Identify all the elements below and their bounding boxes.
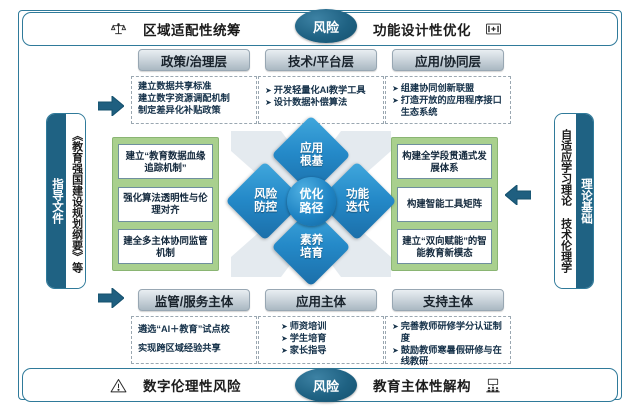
list-item: ➤完善教师研修学分认证制度: [392, 321, 505, 345]
theory-basis-panel: 自适应学习理论 技术伦理学 理论基础: [554, 113, 594, 289]
theory-basis-title: 理论基础: [576, 114, 594, 288]
bottom-bar-left-label: 数字伦理性风险: [143, 375, 241, 395]
header-support-subject: 支持主体: [392, 289, 504, 311]
list-item: ➤设计数据补偿算法: [265, 97, 378, 109]
diagram-root: 区域适配性统筹 功能设计性优化 风险 数字伦理性风险 教育主体性解构: [0, 0, 640, 412]
list-item: ➤开发轻量化AI教学工具: [265, 85, 378, 97]
header-application-subject: 应用主体: [265, 289, 377, 311]
list-item: ➤家长指导: [281, 345, 378, 357]
green-panel-left: 建立“教育数据血缘追踪机制” 强化算法透明性与伦理对齐 建全多主体协同监管机制: [112, 137, 219, 271]
projector-screen-icon: [480, 22, 506, 36]
cell-application-subject: ➤师资培训 ➤学生培育 ➤家长指导: [258, 316, 384, 364]
center-cluster: 应用 根基 功能 迭代 素养 培育 风险 防控 优化 路径: [231, 131, 391, 277]
arrow-right-top-icon: [98, 96, 124, 116]
list-item: ➤鼓励教师寒暑假研修与在线教研: [392, 345, 505, 369]
top-bar-left-label: 区域适配性统筹: [143, 19, 241, 39]
header-regulation-service: 监管/服务主体: [138, 289, 250, 311]
green-item: 建立“双向赋能”的智能教育新模态: [397, 229, 492, 264]
green-item: 强化算法透明性与伦理对齐: [118, 187, 213, 222]
list-item: ➤制定差异化补贴政策: [138, 105, 251, 117]
list-item: ➤遴选“AI＋教育”试点校: [138, 324, 251, 336]
list-item: ➤学生培育: [281, 333, 378, 345]
guiding-documents-panel: 指导文件 《教育强国建设规划纲要》等: [46, 113, 86, 289]
green-item: 建全多主体协同监管机制: [118, 229, 213, 264]
guiding-documents-title: 指导文件: [47, 114, 66, 288]
theory-basis-content: 自适应学习理论 技术伦理学: [555, 114, 576, 288]
core-optimization-path: 优化 路径: [287, 177, 336, 226]
balance-scale-icon: [105, 21, 131, 37]
list-item: ➤师资培训: [281, 321, 378, 333]
list-item: ➤建立数字资源调配机制: [138, 93, 251, 105]
list-item: ➤打造开放的应用程序接口生态系统: [392, 95, 505, 119]
arrow-right-bottom-icon: [98, 288, 124, 308]
green-item: 构建全学段贯通式发展体系: [397, 144, 492, 179]
warning-triangle-icon: [105, 378, 131, 393]
header-policy-governance: 政策/治理层: [138, 49, 250, 71]
arrow-left-middle-icon: [505, 185, 531, 205]
guiding-documents-content: 《教育强国建设规划纲要》等: [66, 114, 86, 288]
green-item: 构建智能工具矩阵: [397, 187, 492, 222]
bottom-bar-right-label: 教育主体性解构: [373, 375, 471, 395]
classroom-teaching-icon: [480, 378, 506, 393]
list-item: ➤建立数据共享标准: [138, 81, 251, 93]
header-application-collab: 应用/协同层: [392, 49, 504, 71]
green-panel-right: 构建全学段贯通式发展体系 构建智能工具矩阵 建立“双向赋能”的智能教育新模态: [391, 137, 498, 271]
top-bar-right-label: 功能设计性优化: [373, 19, 471, 39]
cell-application-collab: ➤组建协同创新联盟 ➤打造开放的应用程序接口生态系统: [385, 76, 511, 124]
cell-regulation-service: ➤遴选“AI＋教育”试点校 ➤实现跨区域经验共享: [131, 316, 257, 364]
header-tech-platform: 技术/平台层: [265, 49, 377, 71]
green-item: 建立“教育数据血缘追踪机制”: [118, 144, 213, 179]
list-item: ➤组建协同创新联盟: [392, 83, 505, 95]
list-item: ➤实现跨区域经验共享: [138, 343, 251, 355]
cell-policy-governance: ➤建立数据共享标准 ➤建立数字资源调配机制 ➤制定差异化补贴政策: [131, 76, 257, 124]
cell-tech-platform: ➤开发轻量化AI教学工具 ➤设计数据补偿算法: [258, 76, 384, 124]
cell-support-subject: ➤完善教师研修学分认证制度 ➤鼓励教师寒暑假研修与在线教研: [385, 316, 511, 364]
top-risk-badge: 风险: [295, 9, 357, 43]
bottom-risk-badge: 风险: [295, 368, 357, 402]
